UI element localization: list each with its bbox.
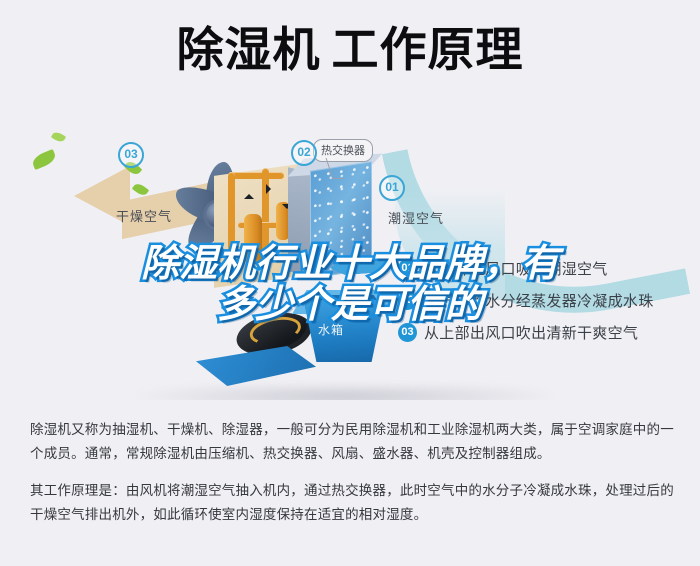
process-step-list: 01 从下部进风口吸进潮湿空气 02 空气中的水分经蒸发器冷凝成水珠 03 从上… [398, 252, 698, 348]
process-step-item: 02 空气中的水分经蒸发器冷凝成水珠 [398, 284, 698, 316]
title-part-2: 工作原理 [332, 23, 524, 76]
compressor-cylinder [244, 214, 262, 264]
step-number-badge: 01 [398, 259, 417, 278]
refrigerant-pipe [228, 172, 284, 179]
heat-exchanger-callout: 热交换器 [313, 139, 373, 162]
process-step-item: 03 从上部出风口吹出清新干爽空气 [398, 316, 698, 348]
water-tank-label: 水箱 [318, 321, 344, 338]
refrigerant-pipe [262, 168, 269, 266]
body-paragraph-2: 其工作原理是：由风机将潮湿空气抽入机内，通过热交换器，此时空气中的水分子冷凝成水… [30, 479, 676, 526]
page-title: 除湿机工作原理 [0, 26, 700, 73]
dry-air-label: 干燥空气 [116, 206, 172, 225]
process-step-item: 01 从下部进风口吸进潮湿空气 [398, 252, 698, 284]
page-title-text: 除湿机工作原理 [177, 23, 524, 76]
leaf-icon [30, 149, 57, 170]
diagram-shadow [130, 386, 560, 400]
title-part-1: 除湿机 [177, 23, 321, 76]
article-body: 除湿机又称为抽湿机、干燥机、除湿器，一般可分为民用除湿机和工业除湿机两大类，属于… [30, 418, 676, 541]
body-paragraph-1: 除湿机又称为抽湿机、干燥机、除湿器，一般可分为民用除湿机和工业除湿机两大类，属于… [30, 418, 676, 465]
humid-air-label: 潮湿空气 [388, 208, 444, 227]
refrigerant-pipe [228, 172, 235, 264]
step-description: 从下部进风口吸进潮湿空气 [424, 258, 608, 279]
flow-arrow-icon [244, 194, 254, 199]
step-description: 从上部出风口吹出清新干爽空气 [424, 322, 638, 343]
evaporator-side-panel [288, 167, 312, 277]
base-panel [196, 346, 316, 386]
leaf-icon [51, 130, 66, 143]
step-number-badge: 03 [398, 323, 417, 342]
flow-arrow-icon [266, 184, 271, 194]
diagram-badge-02: 02 [291, 140, 317, 166]
diagram-badge-01: 01 [379, 175, 405, 201]
diagram-badge-03: 03 [118, 142, 144, 168]
step-number-badge: 02 [398, 291, 417, 310]
step-description: 空气中的水分经蒸发器冷凝成水珠 [424, 290, 654, 311]
